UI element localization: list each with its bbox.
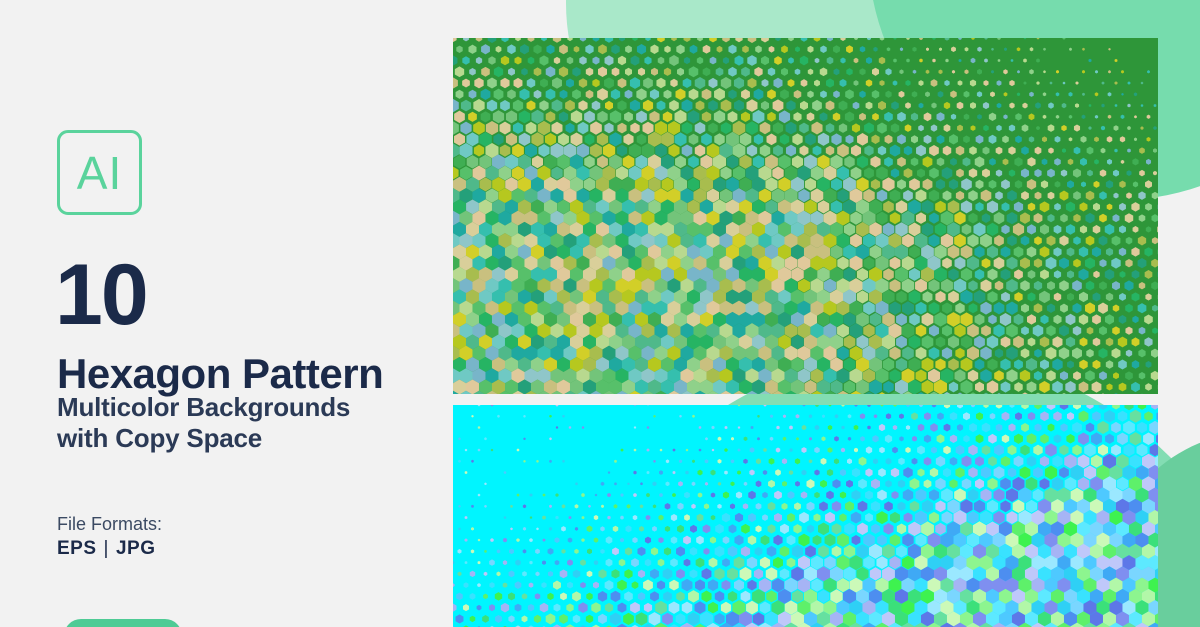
poster-canvas: AI 10 Hexagon Pattern Multicolor Backgro… bbox=[0, 0, 1200, 627]
green-hexagon-canvas bbox=[453, 38, 1158, 394]
format-separator: | bbox=[97, 538, 116, 559]
cyan-hexagon-canvas bbox=[453, 405, 1158, 627]
adobe-illustrator-badge: AI bbox=[57, 130, 142, 215]
adobe-illustrator-badge-label: AI bbox=[77, 150, 122, 196]
file-formats-label: File Formats: bbox=[57, 514, 162, 535]
subtitle-line-1: Multicolor Backgrounds bbox=[57, 393, 350, 422]
subtitle-line-2: with Copy Space bbox=[57, 424, 262, 453]
info-column: AI 10 Hexagon Pattern Multicolor Backgro… bbox=[0, 0, 453, 627]
item-count: 10 bbox=[55, 256, 147, 335]
file-formats-value: EPS|JPG bbox=[57, 538, 156, 560]
format-eps: EPS bbox=[57, 538, 97, 559]
green-hexagon-preview[interactable] bbox=[453, 38, 1158, 394]
page-title: Hexagon Pattern bbox=[57, 352, 383, 396]
cta-button[interactable] bbox=[64, 619, 182, 627]
cyan-hexagon-preview[interactable] bbox=[453, 405, 1158, 627]
format-jpg: JPG bbox=[116, 538, 156, 559]
